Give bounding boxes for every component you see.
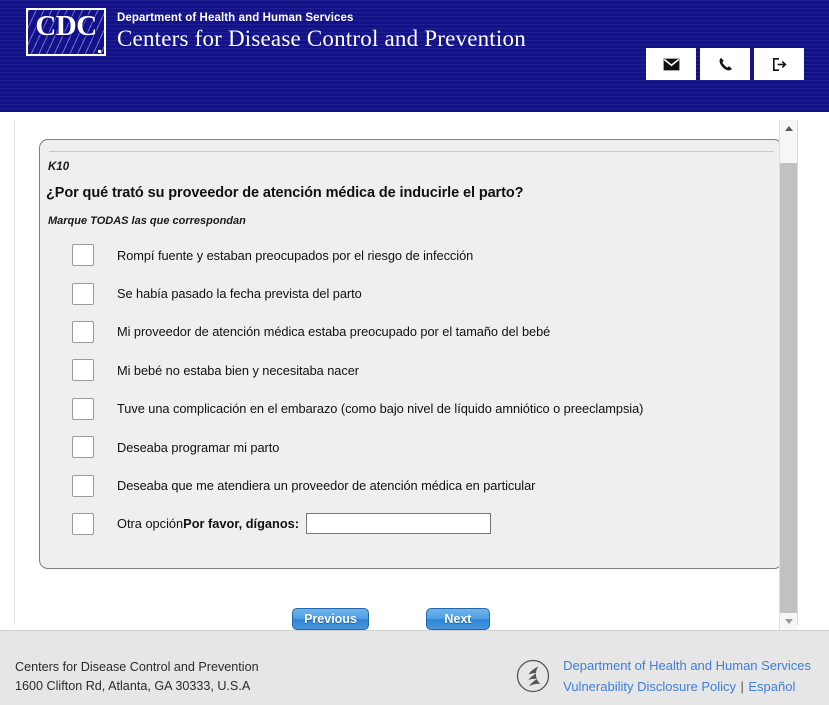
link-espanol[interactable]: Español — [748, 679, 795, 694]
other-option-label: Otra opción — [117, 516, 183, 531]
scroll-up-button[interactable] — [780, 120, 797, 137]
cdc-logo-text: CDC — [28, 11, 104, 42]
site-footer: Centers for Disease Control and Preventi… — [0, 630, 829, 705]
login-button[interactable] — [754, 48, 804, 80]
option-label: Rompí fuente y estaban preocupados por e… — [117, 248, 473, 263]
panel-divider — [49, 151, 774, 152]
option-label: Mi proveedor de atención médica estaba p… — [117, 324, 550, 339]
checkbox-option-5[interactable] — [72, 398, 94, 420]
agency-department: Department of Health and Human Services — [117, 11, 526, 25]
question-id: K10 — [48, 161, 69, 173]
option-row-other[interactable]: Otra opción Por favor, díganos: — [72, 505, 772, 543]
checkbox-option-1[interactable] — [72, 244, 94, 266]
option-label: Se había pasado la fecha prevista del pa… — [117, 286, 362, 301]
agency-name: Department of Health and Human Services … — [117, 8, 526, 53]
vertical-scrollbar[interactable] — [779, 120, 797, 630]
other-option-group: Otra opción Por favor, díganos: — [117, 513, 491, 534]
question-panel: K10 ¿Por qué trató su proveedor de atenc… — [39, 139, 783, 569]
footer-links: Department of Health and Human Services … — [563, 655, 811, 697]
checkbox-option-2[interactable] — [72, 283, 94, 305]
chevron-up-icon — [785, 126, 793, 131]
cdc-brand: CDC Department of Health and Human Servi… — [26, 8, 526, 56]
footer-address-block: Centers for Disease Control and Preventi… — [15, 658, 259, 696]
next-button[interactable]: Next — [426, 608, 490, 630]
mail-button[interactable] — [646, 48, 696, 80]
content-frame: K10 ¿Por qué trató su proveedor de atenc… — [14, 120, 798, 625]
option-row[interactable]: Tuve una complicación en el embarazo (co… — [72, 390, 772, 428]
option-label: Deseaba que me atendiera un proveedor de… — [117, 478, 535, 493]
navigation-buttons: Previous Next — [40, 608, 782, 630]
other-option-prompt: Por favor, díganos: — [183, 516, 299, 531]
question-text: ¿Por qué trató su proveedor de atención … — [46, 185, 523, 201]
mail-icon — [663, 58, 680, 71]
hhs-logo-icon — [516, 659, 550, 698]
cdc-logo: CDC — [26, 8, 106, 56]
scrollbar-thumb[interactable] — [780, 163, 797, 613]
option-row[interactable]: Mi proveedor de atención médica estaba p… — [72, 313, 772, 351]
question-instruction: Marque TODAS las que correspondan — [48, 215, 246, 227]
checkbox-option-4[interactable] — [72, 359, 94, 381]
option-label: Deseaba programar mi parto — [117, 440, 279, 455]
option-row[interactable]: Deseaba que me atendiera un proveedor de… — [72, 466, 772, 504]
other-option-input[interactable] — [306, 513, 491, 534]
checkbox-option-7[interactable] — [72, 475, 94, 497]
option-row[interactable]: Rompí fuente y estaban preocupados por e… — [72, 236, 772, 274]
checkbox-option-other[interactable] — [72, 513, 94, 535]
checkbox-option-3[interactable] — [72, 321, 94, 343]
login-icon — [772, 57, 787, 72]
link-hhs[interactable]: Department of Health and Human Services — [563, 658, 811, 673]
link-separator: | — [741, 679, 744, 694]
option-label: Tuve una complicación en el embarazo (co… — [117, 401, 643, 416]
chevron-down-icon — [785, 619, 793, 624]
trademark-mark — [98, 50, 101, 53]
option-row[interactable]: Se había pasado la fecha prevista del pa… — [72, 274, 772, 312]
option-list: Rompí fuente y estaban preocupados por e… — [72, 236, 772, 543]
option-row[interactable]: Deseaba programar mi parto — [72, 428, 772, 466]
page-body: K10 ¿Por qué trató su proveedor de atenc… — [0, 112, 829, 630]
site-header: CDC Department of Health and Human Servi… — [0, 0, 829, 112]
footer-address: 1600 Clifton Rd, Atlanta, GA 30333, U.S.… — [15, 677, 259, 696]
footer-org-name: Centers for Disease Control and Preventi… — [15, 658, 259, 677]
phone-icon — [718, 57, 733, 72]
option-row[interactable]: Mi bebé no estaba bien y necesitaba nace… — [72, 351, 772, 389]
scroll-down-button[interactable] — [780, 613, 797, 630]
checkbox-option-6[interactable] — [72, 436, 94, 458]
option-label: Mi bebé no estaba bien y necesitaba nace… — [117, 363, 359, 378]
link-vulnerability-disclosure[interactable]: Vulnerability Disclosure Policy — [563, 679, 736, 694]
agency-title: Centers for Disease Control and Preventi… — [117, 25, 526, 53]
footer-links-block: Department of Health and Human Services … — [516, 655, 811, 698]
previous-button[interactable]: Previous — [292, 608, 369, 630]
header-tools — [646, 48, 804, 80]
phone-button[interactable] — [700, 48, 750, 80]
